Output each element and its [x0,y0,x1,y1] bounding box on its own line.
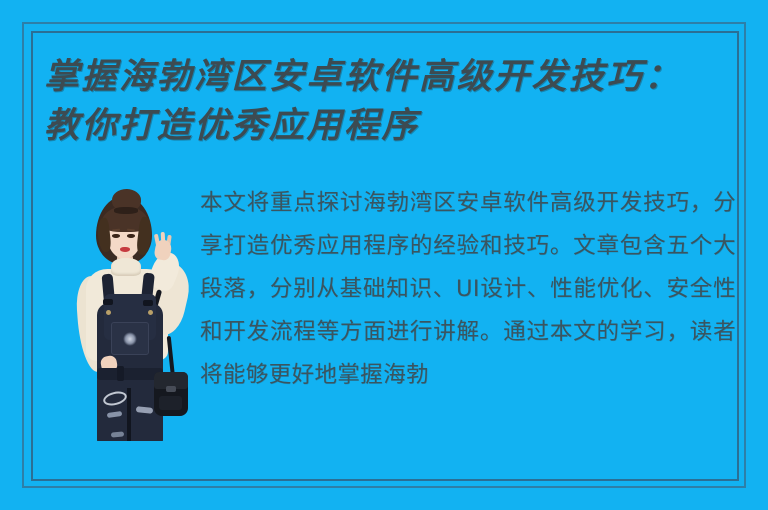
buckle-left [103,299,113,305]
lips [120,247,130,252]
pocket-emblem [123,332,137,346]
article-summary-text: 本文将重点探讨海勃湾区安卓软件高级开发技巧，分享打造优秀应用程序的经验和技巧。文… [200,182,736,397]
bag-clasp [166,386,176,392]
page-title: 掌握海勃湾区安卓软件高级开发技巧： 教你打造优秀应用程序 [44,52,734,150]
belt-loop [117,366,124,381]
model-photo-cutout [56,196,208,444]
shorts-seam [127,388,131,444]
buckle-right [143,300,153,306]
button-left [106,310,111,315]
eye-right [127,234,135,238]
turtleneck-collar [111,258,141,276]
button-right [148,310,153,315]
hair-tie [114,207,138,214]
bag-pocket [159,396,182,410]
article-banner: 掌握海勃湾区安卓软件高级开发技巧： 教你打造优秀应用程序 本文将重点探讨海勃湾区… [0,0,768,510]
eye-left [112,234,120,238]
